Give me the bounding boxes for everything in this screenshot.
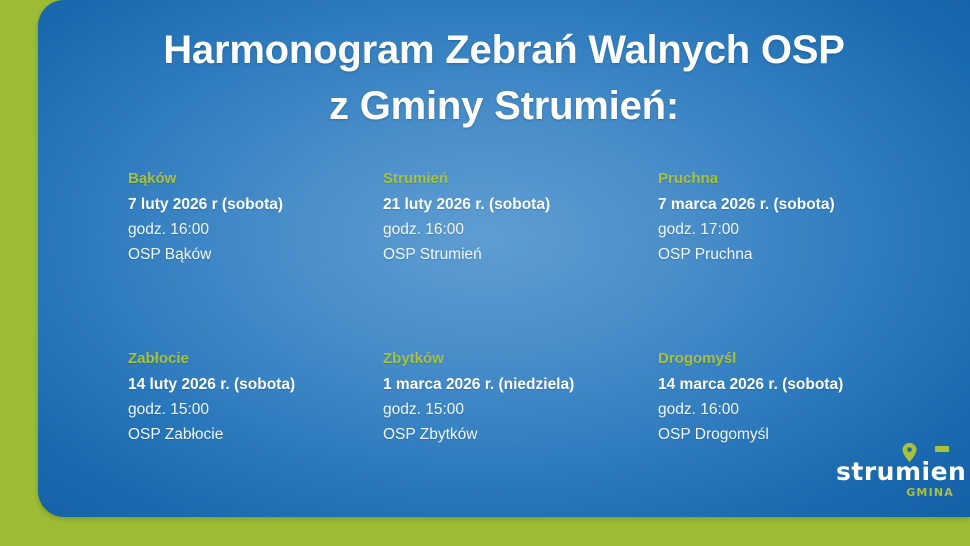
schedule-entry-bakow: Bąków 7 luty 2026 r (sobota) godz. 16:00… bbox=[128, 168, 383, 348]
schedule-entry-zablocie: Zabłocie 14 luty 2026 r. (sobota) godz. … bbox=[128, 348, 383, 447]
title-line-1: Harmonogram Zebrań Walnych OSP bbox=[38, 22, 970, 78]
logo-subtitle: GMINA bbox=[906, 486, 954, 499]
entry-time: godz. 16:00 bbox=[128, 217, 383, 242]
slide-canvas: Harmonogram Zebrań Walnych OSP z Gminy S… bbox=[0, 0, 970, 546]
entry-place: OSP Bąków bbox=[128, 242, 383, 267]
entry-date: 21 luty 2026 r. (sobota) bbox=[383, 192, 658, 217]
schedule-grid: Bąków 7 luty 2026 r (sobota) godz. 16:00… bbox=[128, 168, 958, 447]
page-title: Harmonogram Zebrań Walnych OSP z Gminy S… bbox=[38, 22, 970, 134]
entry-time: godz. 15:00 bbox=[383, 397, 658, 422]
entry-time: godz. 15:00 bbox=[128, 397, 383, 422]
entry-time: godz. 17:00 bbox=[658, 217, 958, 242]
entry-village-name: Bąków bbox=[128, 168, 383, 190]
entry-place: OSP Strumień bbox=[383, 242, 658, 267]
gmina-strumien-logo: strumien GMINA bbox=[836, 443, 956, 499]
entry-time: godz. 16:00 bbox=[383, 217, 658, 242]
schedule-entry-strumien: Strumień 21 luty 2026 r. (sobota) godz. … bbox=[383, 168, 658, 348]
entry-village-name: Drogomyśl bbox=[658, 348, 958, 370]
entry-date: 7 luty 2026 r (sobota) bbox=[128, 192, 383, 217]
entry-village-name: Pruchna bbox=[658, 168, 958, 190]
entry-place: OSP Zbytków bbox=[383, 422, 658, 447]
entry-village-name: Zbytków bbox=[383, 348, 658, 370]
entry-place: OSP Pruchna bbox=[658, 242, 958, 267]
entry-date: 7 marca 2026 r. (sobota) bbox=[658, 192, 958, 217]
entry-time: godz. 16:00 bbox=[658, 397, 958, 422]
entry-village-name: Zabłocie bbox=[128, 348, 383, 370]
title-line-2: z Gminy Strumień: bbox=[38, 78, 970, 134]
entry-date: 14 marca 2026 r. (sobota) bbox=[658, 372, 958, 397]
entry-village-name: Strumień bbox=[383, 168, 658, 190]
content-panel: Harmonogram Zebrań Walnych OSP z Gminy S… bbox=[38, 0, 970, 517]
logo-wordmark: strumien bbox=[836, 459, 966, 485]
entry-place: OSP Zabłocie bbox=[128, 422, 383, 447]
schedule-entry-zbytkow: Zbytków 1 marca 2026 r. (niedziela) godz… bbox=[383, 348, 658, 447]
schedule-entry-pruchna: Pruchna 7 marca 2026 r. (sobota) godz. 1… bbox=[658, 168, 958, 348]
entry-date: 1 marca 2026 r. (niedziela) bbox=[383, 372, 658, 397]
entry-date: 14 luty 2026 r. (sobota) bbox=[128, 372, 383, 397]
schedule-entry-drogomysl: Drogomyśl 14 marca 2026 r. (sobota) godz… bbox=[658, 348, 958, 447]
dash-icon bbox=[935, 446, 949, 452]
